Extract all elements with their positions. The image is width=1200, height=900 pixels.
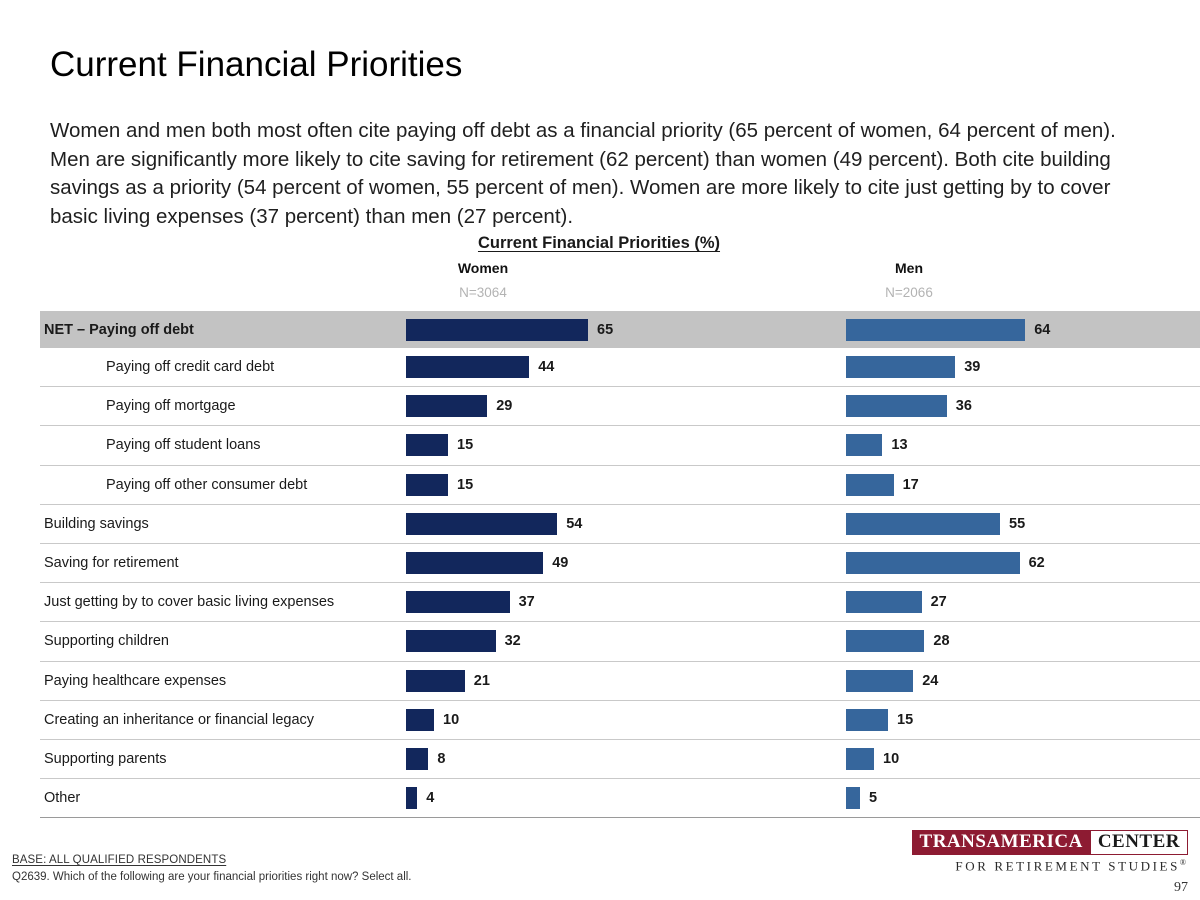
bar-women: [406, 552, 543, 574]
page-title: Current Financial Priorities: [50, 46, 462, 85]
bar-women: [406, 513, 557, 535]
row-label: Paying off other consumer debt: [106, 477, 307, 493]
bar-women: [406, 395, 487, 417]
row-label: Paying off credit card debt: [106, 359, 274, 375]
bar-value-men: 62: [1029, 555, 1045, 571]
bar-value-men: 27: [931, 594, 947, 610]
bar-group-women: 44: [406, 356, 554, 378]
bar-value-men: 39: [964, 359, 980, 375]
bar-men: [846, 630, 924, 652]
row-label: Paying healthcare expenses: [44, 673, 226, 689]
bar-women: [406, 709, 434, 731]
column-sample-size-women: N=3064: [406, 285, 560, 300]
chart-header: Current Financial Priorities (%) Women N…: [0, 234, 1200, 312]
logo-tagline-text: FOR RETIREMENT STUDIES: [955, 858, 1180, 873]
bar-value-women: 15: [457, 437, 473, 453]
bar-men: [846, 748, 874, 770]
bar-group-women: 10: [406, 709, 459, 731]
bar-men: [846, 670, 913, 692]
bar-value-men: 5: [869, 790, 877, 806]
bar-group-men: 5: [846, 787, 877, 809]
row-label: NET – Paying off debt: [44, 322, 194, 338]
bar-value-women: 54: [566, 516, 582, 532]
table-row: Supporting children3228: [40, 622, 1200, 661]
transamerica-logo: TRANSAMERICA CENTER FOR RETIREMENT STUDI…: [948, 830, 1188, 874]
bar-group-men: 62: [846, 552, 1045, 574]
bar-group-women: 65: [406, 319, 613, 341]
bar-group-women: 29: [406, 395, 512, 417]
row-label: Other: [44, 790, 80, 806]
row-label: Supporting children: [44, 633, 169, 649]
logo-tagline: FOR RETIREMENT STUDIES®: [948, 858, 1188, 874]
intro-paragraph: Women and men both most often cite payin…: [50, 117, 1150, 231]
bar-group-women: 8: [406, 748, 445, 770]
bar-men: [846, 356, 955, 378]
bar-women: [406, 670, 465, 692]
row-label: Building savings: [44, 516, 149, 532]
bar-value-men: 17: [903, 477, 919, 493]
bar-value-men: 24: [922, 673, 938, 689]
bar-group-men: 15: [846, 709, 913, 731]
bar-value-women: 8: [437, 751, 445, 767]
bar-men: [846, 552, 1020, 574]
bar-value-women: 65: [597, 322, 613, 338]
row-label: Supporting parents: [44, 751, 167, 767]
bar-group-men: 55: [846, 513, 1025, 535]
bar-group-women: 49: [406, 552, 568, 574]
table-row: Building savings5455: [40, 505, 1200, 544]
table-row: Paying off credit card debt4439: [40, 348, 1200, 387]
row-label: Saving for retirement: [44, 555, 179, 571]
column-sample-size-men: N=2066: [846, 285, 972, 300]
logo-transamerica-text: TRANSAMERICA: [912, 830, 1090, 855]
bar-men: [846, 434, 882, 456]
row-label: Paying off mortgage: [106, 398, 236, 414]
bar-women: [406, 434, 448, 456]
table-row: Just getting by to cover basic living ex…: [40, 583, 1200, 622]
column-header-women: Women: [406, 260, 560, 276]
chart-subtitle: Current Financial Priorities (%): [406, 234, 792, 253]
bar-value-women: 15: [457, 477, 473, 493]
bar-value-men: 13: [891, 437, 907, 453]
bar-group-women: 54: [406, 513, 582, 535]
bar-women: [406, 748, 428, 770]
bar-value-women: 4: [426, 790, 434, 806]
row-label: Just getting by to cover basic living ex…: [44, 594, 334, 610]
bar-men: [846, 591, 922, 613]
bar-value-men: 15: [897, 712, 913, 728]
bar-women: [406, 630, 496, 652]
table-row: Paying off other consumer debt1517: [40, 466, 1200, 505]
bar-value-women: 32: [505, 633, 521, 649]
table-row: Paying off mortgage2936: [40, 387, 1200, 426]
bar-men: [846, 787, 860, 809]
bar-value-women: 29: [496, 398, 512, 414]
logo-registered-mark: ®: [1180, 858, 1186, 867]
column-header-men: Men: [846, 260, 972, 276]
bar-value-women: 10: [443, 712, 459, 728]
bar-value-men: 10: [883, 751, 899, 767]
bar-group-women: 15: [406, 474, 473, 496]
bar-men: [846, 513, 1000, 535]
footer-question-text: Q2639. Which of the following are your f…: [12, 869, 412, 886]
bar-group-men: 10: [846, 748, 899, 770]
bar-men: [846, 395, 947, 417]
bar-men: [846, 319, 1025, 341]
bar-value-women: 49: [552, 555, 568, 571]
bar-group-men: 24: [846, 670, 938, 692]
bar-value-women: 21: [474, 673, 490, 689]
bar-value-men: 36: [956, 398, 972, 414]
bar-group-women: 21: [406, 670, 490, 692]
priorities-chart-table: NET – Paying off debt6564Paying off cred…: [40, 311, 1200, 818]
bar-group-men: 13: [846, 434, 908, 456]
table-row: Paying off student loans1513: [40, 426, 1200, 465]
row-label: Creating an inheritance or financial leg…: [44, 712, 314, 728]
footer-base-text: BASE: ALL QUALIFIED RESPONDENTS: [12, 852, 412, 869]
bar-value-women: 44: [538, 359, 554, 375]
bar-men: [846, 709, 888, 731]
table-row: Saving for retirement4962: [40, 544, 1200, 583]
bar-group-men: 17: [846, 474, 919, 496]
bar-women: [406, 591, 510, 613]
bar-men: [846, 474, 894, 496]
bar-women: [406, 356, 529, 378]
bar-group-men: 27: [846, 591, 947, 613]
bar-group-men: 36: [846, 395, 972, 417]
bar-group-men: 28: [846, 630, 950, 652]
bar-group-men: 64: [846, 319, 1050, 341]
logo-center-text: CENTER: [1090, 830, 1188, 855]
table-row: Creating an inheritance or financial leg…: [40, 701, 1200, 740]
bar-value-men: 64: [1034, 322, 1050, 338]
table-row: Supporting parents810: [40, 740, 1200, 779]
bar-women: [406, 319, 588, 341]
bar-group-women: 32: [406, 630, 521, 652]
table-row: NET – Paying off debt6564: [40, 311, 1200, 348]
bar-group-women: 15: [406, 434, 473, 456]
bar-value-men: 28: [933, 633, 949, 649]
bar-women: [406, 474, 448, 496]
bar-women: [406, 787, 417, 809]
page-number: 97: [1174, 880, 1188, 896]
table-row: Other45: [40, 779, 1200, 818]
table-row: Paying healthcare expenses2124: [40, 662, 1200, 701]
bar-value-women: 37: [519, 594, 535, 610]
logo-wordmark: TRANSAMERICA CENTER: [948, 830, 1188, 855]
bar-group-women: 4: [406, 787, 434, 809]
row-label: Paying off student loans: [106, 437, 261, 453]
bar-group-men: 39: [846, 356, 980, 378]
footer: BASE: ALL QUALIFIED RESPONDENTS Q2639. W…: [12, 852, 412, 886]
bar-group-women: 37: [406, 591, 535, 613]
bar-value-men: 55: [1009, 516, 1025, 532]
